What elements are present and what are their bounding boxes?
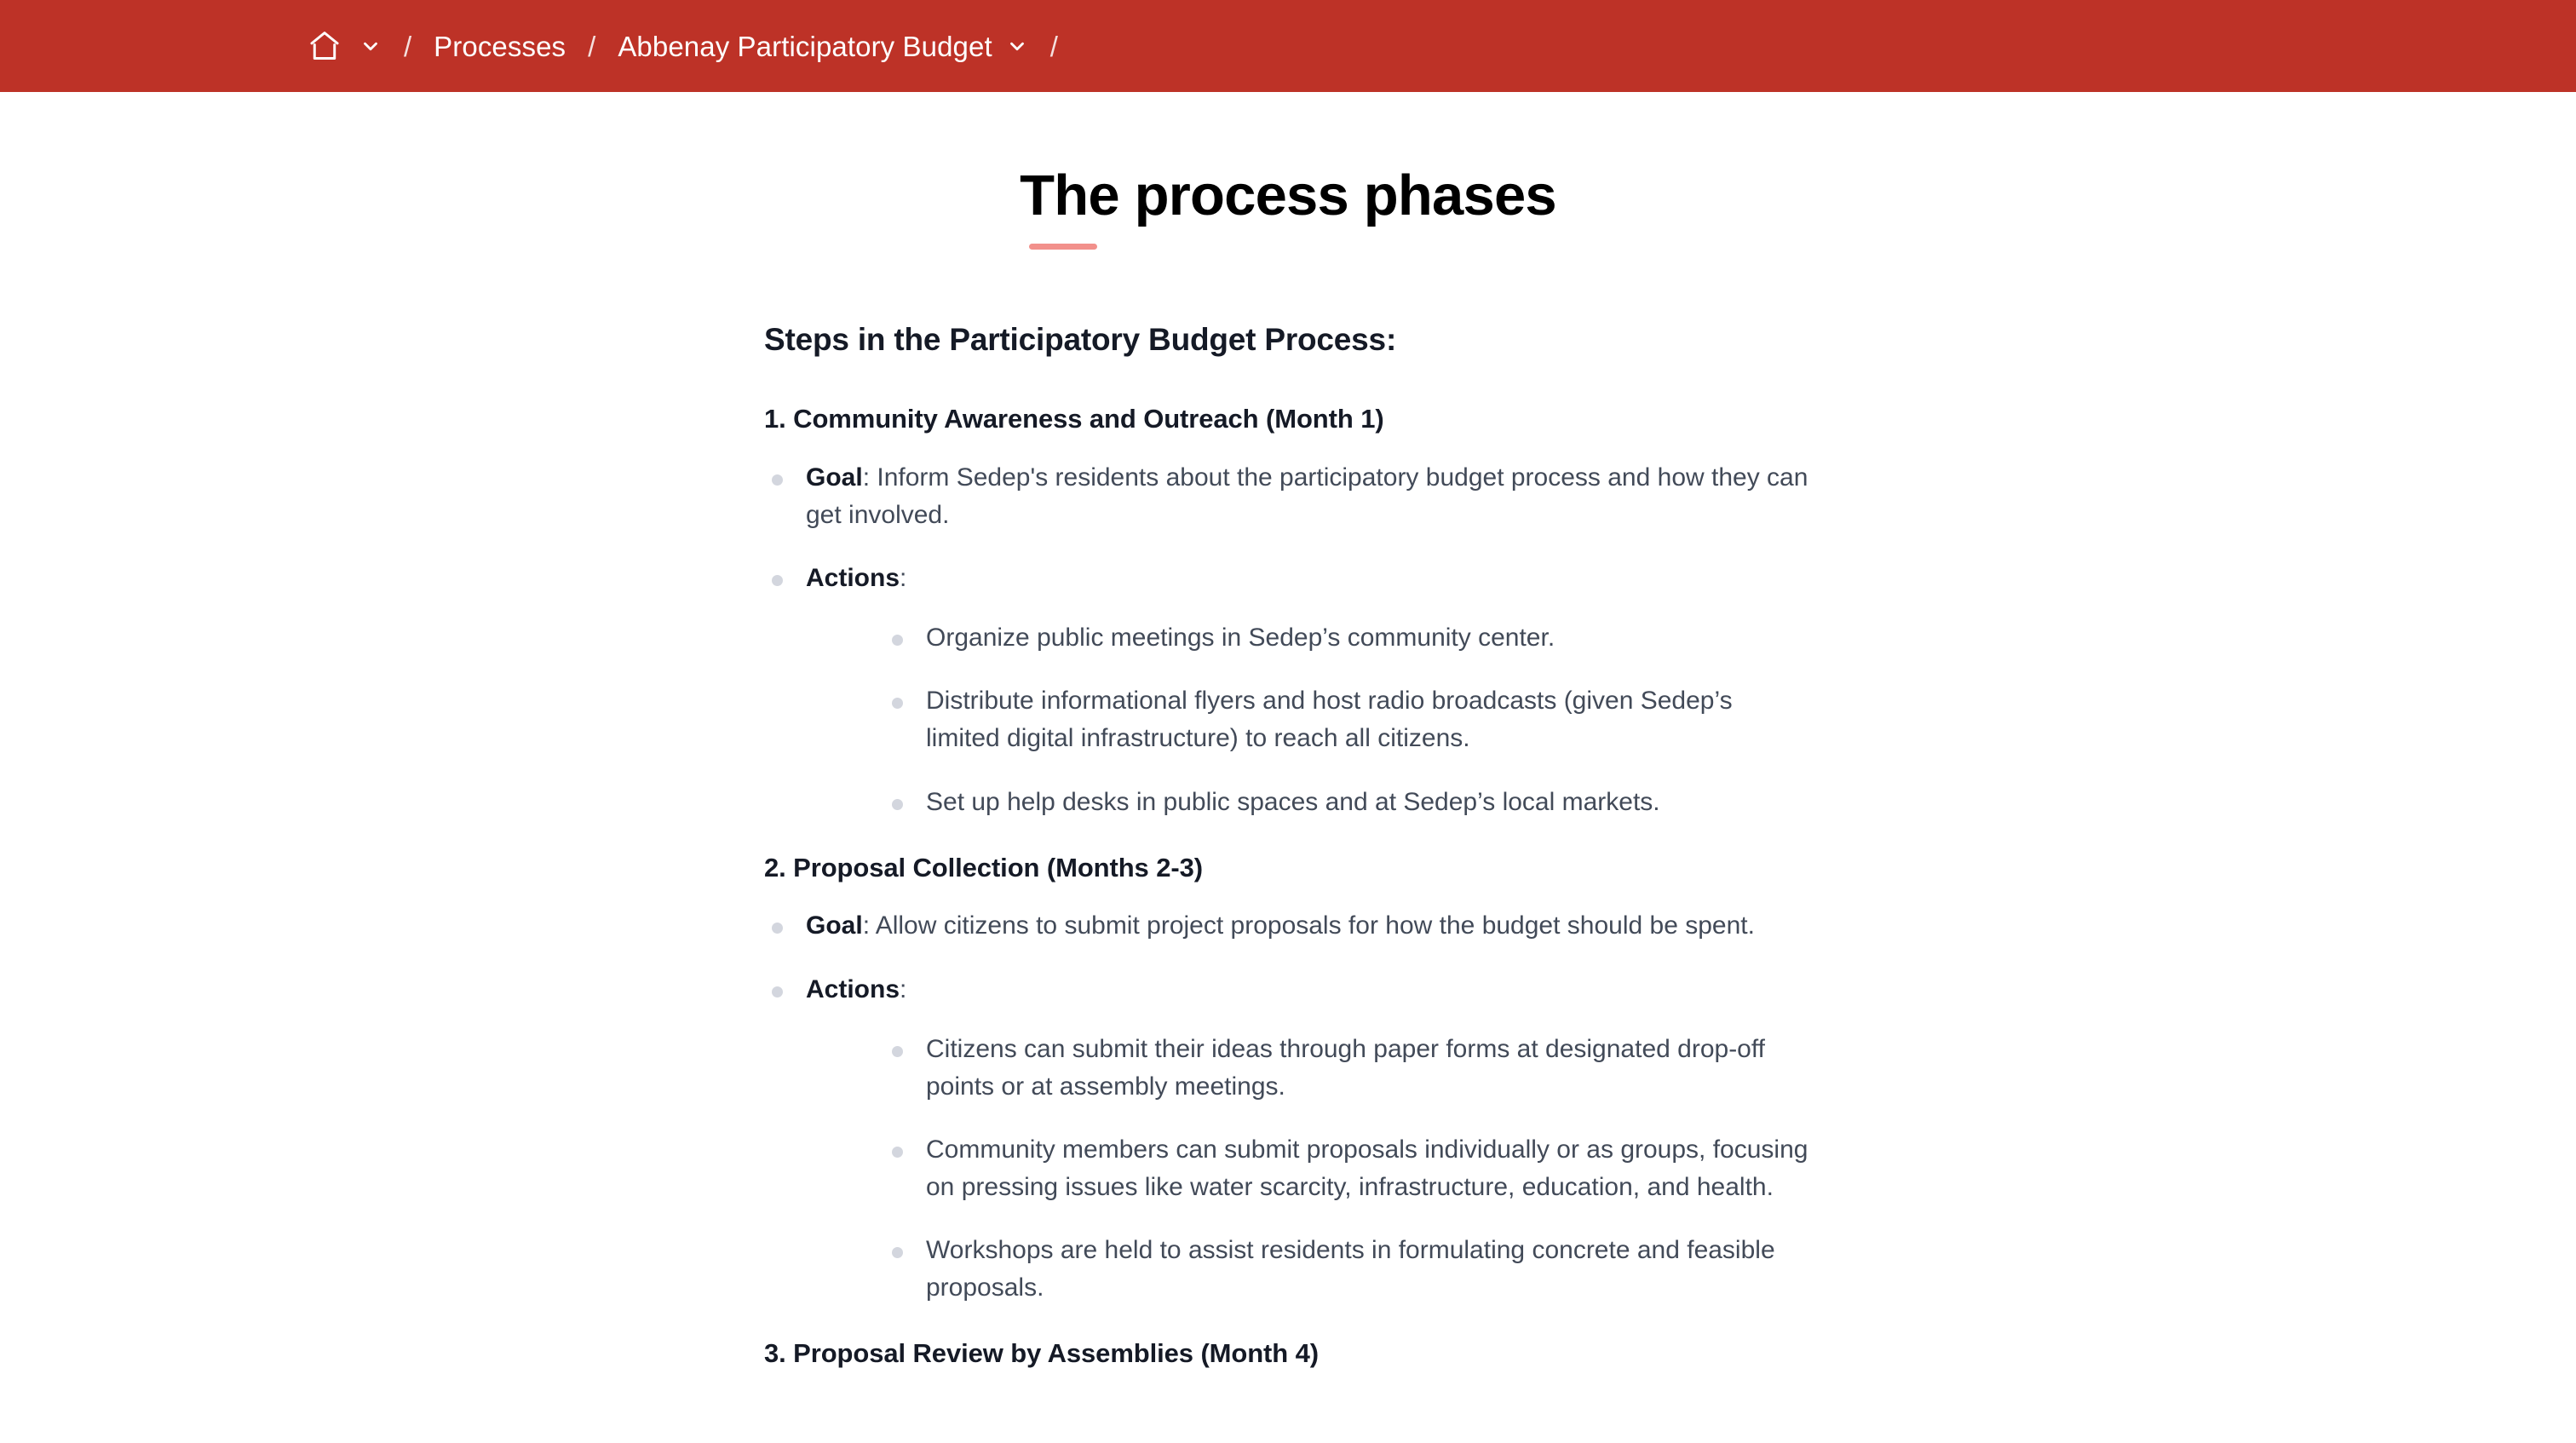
page-body: The process phases Steps in the Particip… bbox=[0, 92, 2576, 1428]
title-rule-holder bbox=[773, 227, 1803, 250]
goal-text: : Inform Sedep's residents about the par… bbox=[806, 463, 1808, 529]
actions-label-suffix: : bbox=[900, 975, 906, 1003]
actions-list: Citizens can submit their ideas through … bbox=[888, 1031, 1812, 1308]
list-item: Distribute informational flyers and host… bbox=[888, 682, 1812, 757]
goal-text: : Allow citizens to submit project propo… bbox=[863, 911, 1755, 940]
breadcrumb-home[interactable] bbox=[303, 28, 382, 64]
step-detail-list: Goal: Inform Sedep's residents about the… bbox=[768, 459, 1812, 821]
title-accent-rule bbox=[1029, 244, 1097, 250]
list-item-goal: Goal: Inform Sedep's residents about the… bbox=[768, 459, 1812, 534]
goal-label: Goal bbox=[806, 911, 863, 940]
step-detail-list: Goal: Allow citizens to submit project p… bbox=[768, 907, 1812, 1307]
list-item: Organize public meetings in Sedep’s comm… bbox=[888, 619, 1812, 657]
home-button[interactable] bbox=[303, 28, 346, 64]
home-icon bbox=[307, 28, 342, 64]
breadcrumb-item-processes[interactable]: Processes bbox=[434, 32, 566, 60]
goal-label: Goal bbox=[806, 463, 863, 492]
chevron-down-icon[interactable] bbox=[1006, 35, 1028, 57]
actions-list: Organize public meetings in Sedep’s comm… bbox=[888, 619, 1812, 820]
steps-list: 1. Community Awareness and Outreach (Mon… bbox=[764, 401, 1812, 1371]
page-title-block: The process phases bbox=[773, 164, 1803, 250]
list-item: Set up help desks in public spaces and a… bbox=[888, 784, 1812, 821]
step-heading: 1. Community Awareness and Outreach (Mon… bbox=[764, 401, 1812, 437]
step-heading: 3. Proposal Review by Assemblies (Month … bbox=[764, 1336, 1812, 1371]
step-heading: 2. Proposal Collection (Months 2-3) bbox=[764, 850, 1812, 886]
breadcrumb-separator: / bbox=[1050, 32, 1058, 60]
breadcrumb-item-process-group[interactable]: Abbenay Participatory Budget bbox=[618, 32, 1027, 60]
step-block: 2. Proposal Collection (Months 2-3)Goal:… bbox=[764, 850, 1812, 1308]
list-item: Workshops are held to assist residents i… bbox=[888, 1232, 1812, 1307]
section-title: Steps in the Participatory Budget Proces… bbox=[764, 319, 1812, 360]
list-item-goal: Goal: Allow citizens to submit project p… bbox=[768, 907, 1812, 945]
actions-label-suffix: : bbox=[900, 564, 906, 592]
step-block: 1. Community Awareness and Outreach (Mon… bbox=[764, 401, 1812, 821]
page-title: The process phases bbox=[1020, 164, 1556, 227]
actions-label: Actions bbox=[806, 564, 900, 592]
breadcrumb-bar: / Processes / Abbenay Participatory Budg… bbox=[0, 0, 2576, 92]
list-item-actions: Actions:Citizens can submit their ideas … bbox=[768, 971, 1812, 1308]
step-block: 3. Proposal Review by Assemblies (Month … bbox=[764, 1336, 1812, 1371]
breadcrumb-separator: / bbox=[588, 32, 595, 60]
list-item: Community members can submit proposals i… bbox=[888, 1131, 1812, 1206]
process-phases-content: Steps in the Participatory Budget Proces… bbox=[764, 319, 1812, 1428]
list-item-actions: Actions:Organize public meetings in Sede… bbox=[768, 560, 1812, 820]
actions-label: Actions bbox=[806, 975, 900, 1003]
breadcrumb: / Processes / Abbenay Participatory Budg… bbox=[303, 0, 1080, 92]
list-item: Citizens can submit their ideas through … bbox=[888, 1031, 1812, 1106]
chevron-down-icon[interactable] bbox=[359, 35, 382, 57]
breadcrumb-item-abbenay-participatory-budget[interactable]: Abbenay Participatory Budget bbox=[618, 32, 992, 60]
breadcrumb-separator: / bbox=[404, 32, 411, 60]
